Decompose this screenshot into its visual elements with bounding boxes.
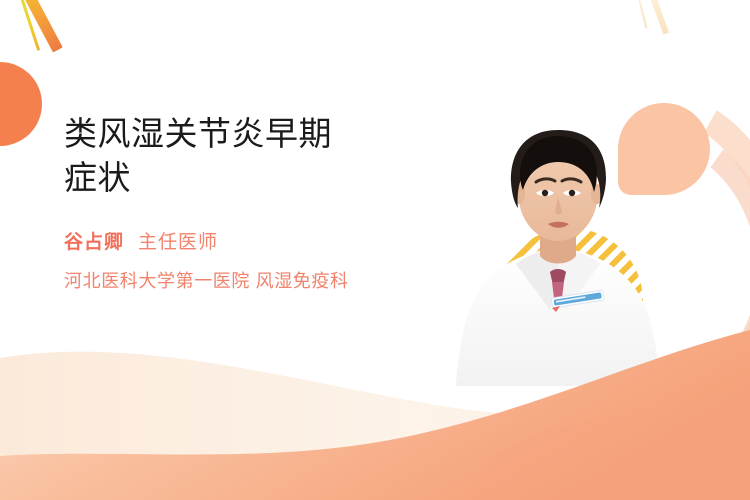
faint-diagonal-stroke-icon [155, 360, 173, 395]
doctor-byline: 谷占卿 主任医师 [64, 227, 444, 254]
cream-diagonal-stroke-secondary-icon [635, 0, 648, 29]
yellow-diagonal-stroke-icon [17, 0, 40, 51]
promo-card: 类风湿关节炎早期 症状 谷占卿 主任医师 河北医科大学第一医院 风湿免疫科 [0, 0, 750, 500]
page-title: 类风湿关节炎早期 症状 [64, 112, 444, 200]
orange-circle-decoration [0, 62, 42, 146]
cream-diagonal-stroke-icon [647, 0, 669, 35]
doctor-title: 主任医师 [138, 227, 218, 254]
doctor-name: 谷占卿 [64, 227, 124, 254]
orange-diagonal-stroke-icon [20, 0, 63, 52]
doctor-portrait [452, 96, 664, 386]
text-block: 类风湿关节炎早期 症状 谷占卿 主任医师 河北医科大学第一医院 风湿免疫科 [64, 112, 444, 293]
doctor-affiliation: 河北医科大学第一医院 风湿免疫科 [64, 267, 444, 293]
